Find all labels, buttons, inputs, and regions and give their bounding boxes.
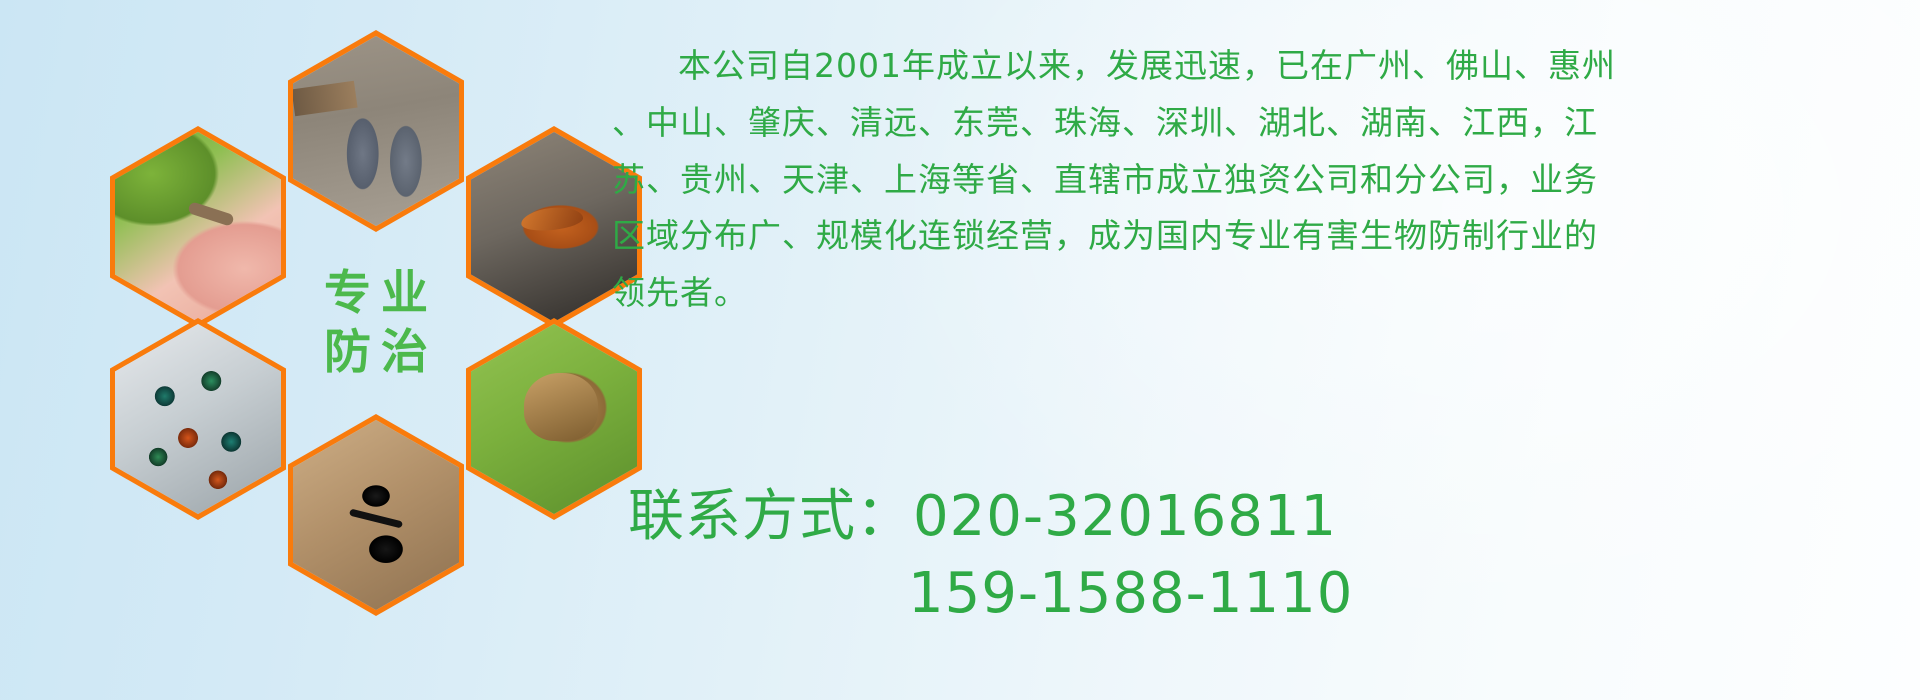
rats-photo	[293, 36, 459, 226]
honeycomb-center-label: 专业 防治	[288, 222, 464, 424]
hex-cell-mosquito	[110, 126, 286, 328]
intro-line-5: 领先者。	[612, 265, 1912, 322]
banner-content: 本公司自2001年成立以来，发展迅速，已在广州、佛山、惠州 、中山、肇庆、清远、…	[600, 0, 1920, 700]
hex-cell-rats-image	[293, 36, 459, 226]
hex-cell-mosquito-image	[115, 132, 281, 322]
flies-photo	[115, 324, 281, 514]
ant-photo	[293, 420, 459, 610]
honeycomb-photo-cluster: 专业 防治	[90, 0, 590, 580]
contact-phone-landline[interactable]: 联系方式：020-32016811	[616, 478, 1916, 555]
intro-line-2: 、中山、肇庆、清远、东莞、珠海、深圳、湖北、湖南、江西，江	[612, 95, 1912, 152]
company-intro-paragraph: 本公司自2001年成立以来，发展迅速，已在广州、佛山、惠州 、中山、肇庆、清远、…	[612, 38, 1912, 322]
promo-banner: 专业 防治 本公司自2001年成立以来，发展迅速，已在广州、佛山、惠州 、中山、…	[0, 0, 1920, 700]
hex-cell-flies-image	[115, 324, 281, 514]
hex-cell-ant-image	[293, 420, 459, 610]
hex-cell-flies	[110, 318, 286, 520]
hex-cell-ant	[288, 414, 464, 616]
contact-block: 联系方式：020-32016811 159-1588-1110	[616, 478, 1916, 633]
intro-line-1: 本公司自2001年成立以来，发展迅速，已在广州、佛山、惠州	[612, 38, 1912, 95]
intro-line-4: 区域分布广、规模化连锁经营，成为国内专业有害生物防制行业的	[612, 208, 1912, 265]
contact-phone-mobile[interactable]: 159-1588-1110	[616, 555, 1916, 632]
intro-line-3: 苏、贵州、天津、上海等省、直辖市成立独资公司和分公司，业务	[612, 152, 1912, 209]
center-label-line-1: 专业	[314, 270, 438, 317]
center-label-line-2: 防治	[314, 329, 438, 376]
mosquito-photo	[115, 132, 281, 322]
hex-cell-rats	[288, 30, 464, 232]
